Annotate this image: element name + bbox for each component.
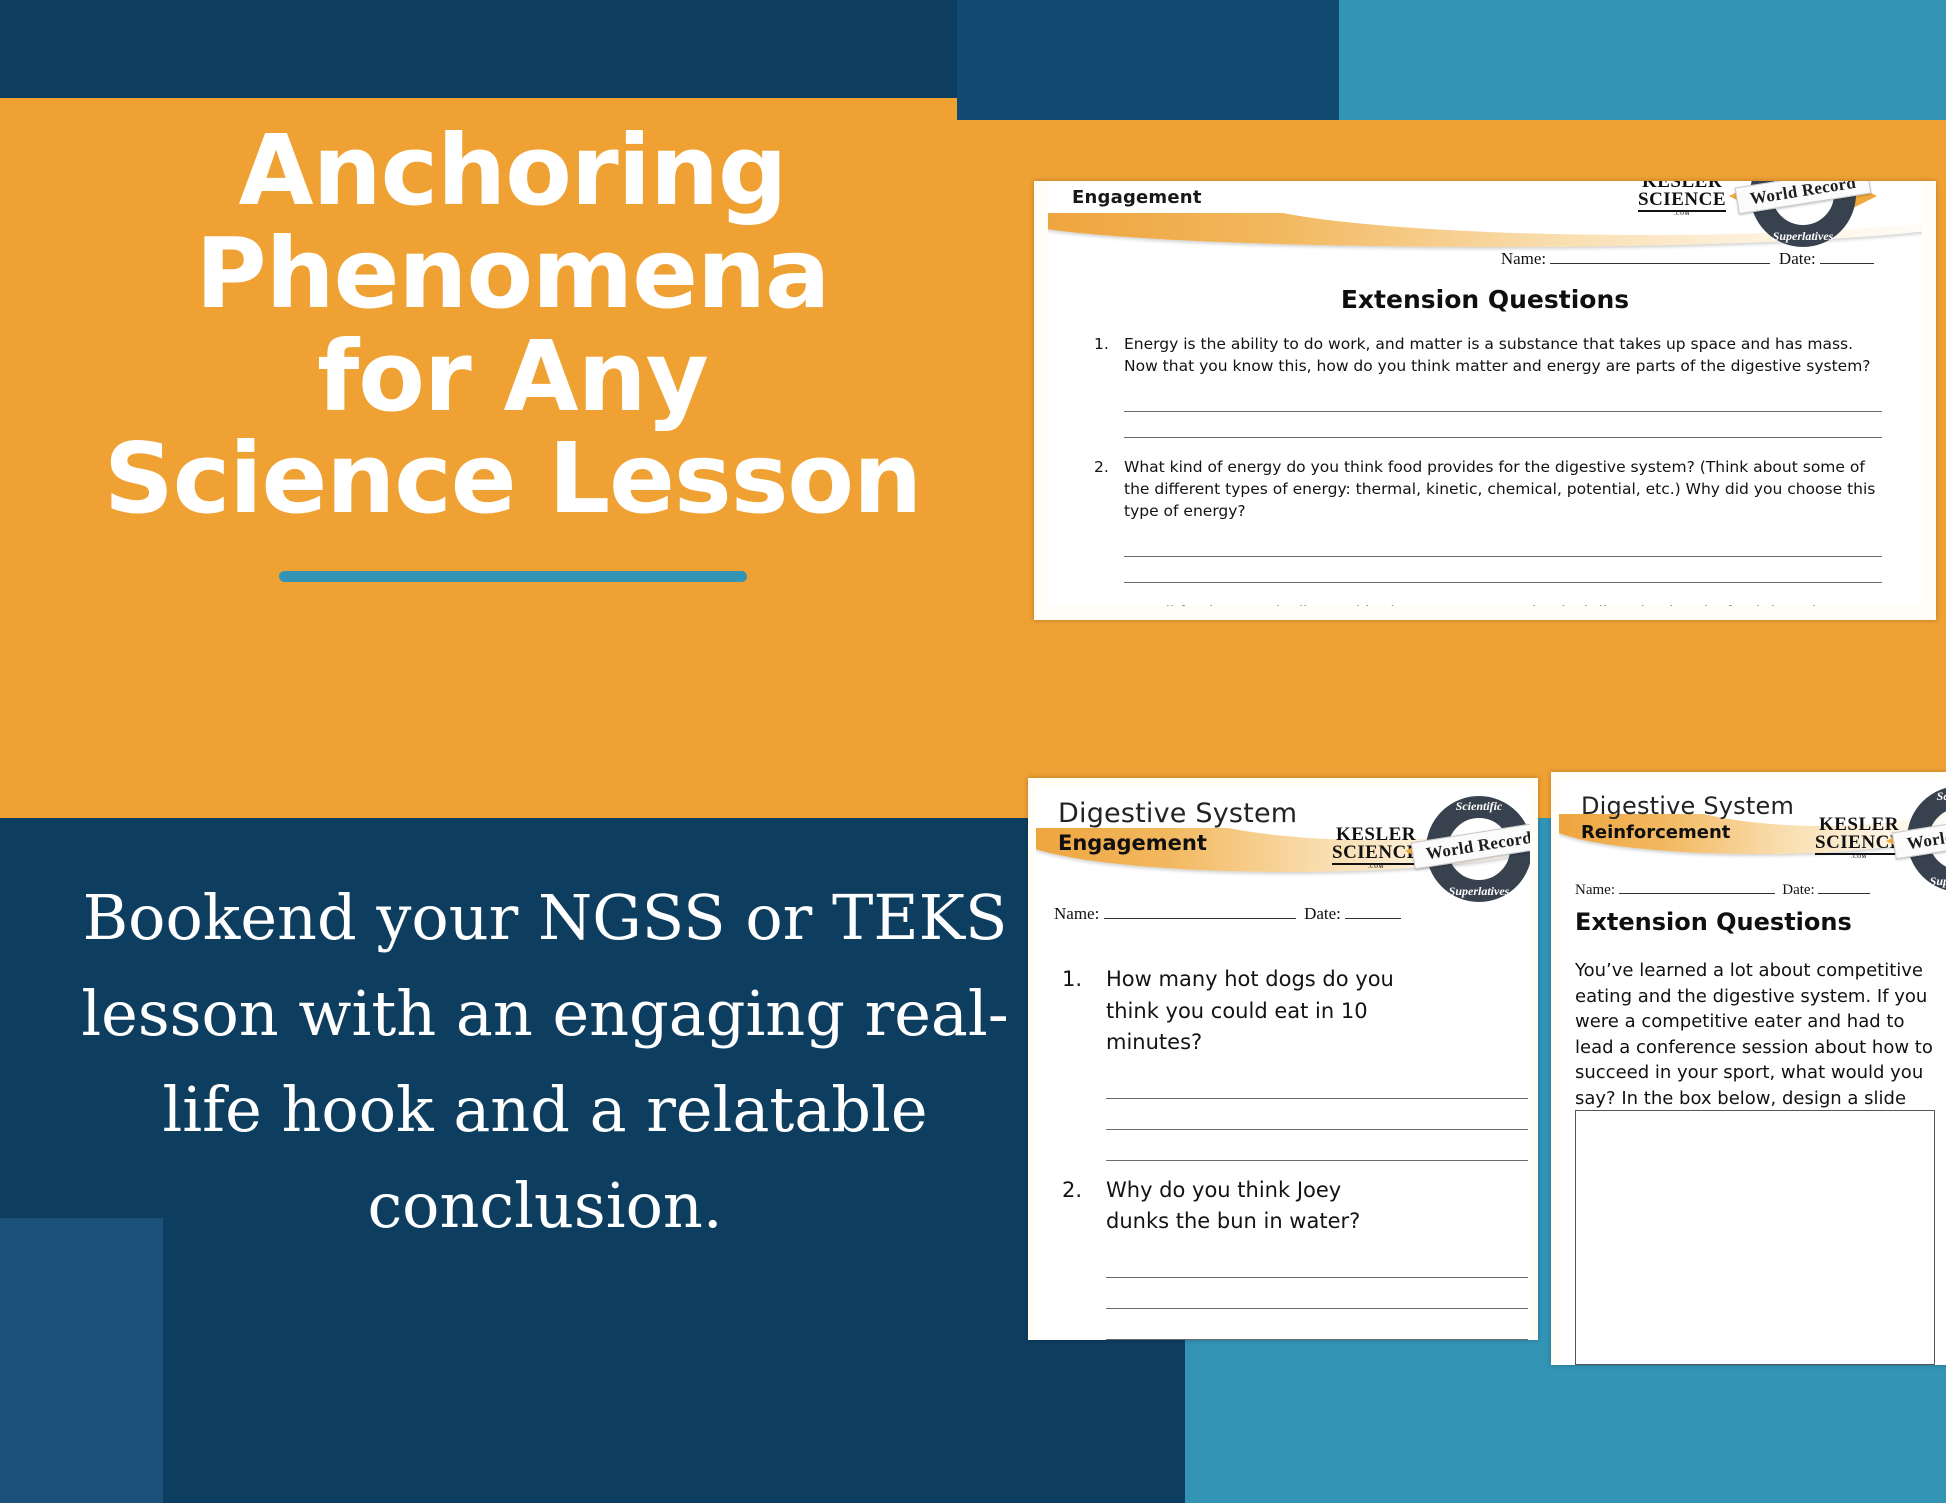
question-number: 2. [1094, 456, 1124, 522]
background-teal-bottom-right [1185, 1365, 1946, 1503]
worksheet-heading: Extension Questions [1048, 285, 1922, 314]
name-date-line: Name: Date: [1575, 882, 1870, 899]
world-record-badge: Scientific Superlatives World Record [1426, 796, 1530, 902]
answer-line[interactable] [1124, 531, 1882, 557]
background-navy-top-block [957, 0, 1339, 120]
name-date-line: Name: Date: [1054, 904, 1401, 924]
worksheet-title-block: Digestive System Engagement [1058, 798, 1297, 855]
background-lightblue-bottom-left [0, 1218, 163, 1503]
question-text: What kind of energy do you think food pr… [1124, 456, 1882, 522]
answer-lines[interactable] [1124, 386, 1882, 438]
answer-line[interactable] [1106, 1278, 1528, 1309]
answer-line[interactable] [1106, 1099, 1528, 1130]
answer-line[interactable] [1106, 1068, 1528, 1099]
page-title-line-1: Anchoring [239, 114, 787, 227]
question-list: 1. Energy is the ability to do work, and… [1094, 333, 1882, 606]
answer-line[interactable] [1124, 386, 1882, 412]
question-text: Not all food matter is digested in the s… [1124, 601, 1882, 606]
page-title: Anchoring Phenomena for Any Science Less… [60, 120, 965, 531]
question-number: 1. [1094, 333, 1124, 377]
badge-arc-bottom: Superlatives [1426, 884, 1530, 899]
answer-line[interactable] [1106, 1309, 1528, 1340]
kesler-science-logo: KESLER SCIENCE .COM [1638, 181, 1726, 218]
badge-arc-bottom: Superlatives [1750, 229, 1856, 244]
background-navy-top-left [0, 0, 968, 98]
question-list: 1. How many hot dogs do you think you co… [1062, 964, 1530, 1340]
question-number: 1. [1062, 964, 1106, 1059]
worksheet-page: Digestive System Reinforcement KESLER SC… [1559, 780, 1946, 1365]
world-record-badge: Scientific Superlatives World Record [1907, 786, 1946, 892]
answer-lines[interactable] [1124, 531, 1882, 583]
answer-line[interactable] [1124, 557, 1882, 583]
date-input[interactable] [1820, 263, 1874, 264]
worksheet-digestive-engagement: Digestive System Engagement KESLER SCIEN… [1028, 778, 1538, 1340]
hero-subtext: Bookend your NGSS or TEKS lesson with an… [40, 870, 1050, 1254]
name-label: Name: [1054, 904, 1099, 923]
logo-line-3: .COM [1815, 856, 1903, 861]
world-record-badge: Scientific Superlatives World Record [1750, 181, 1856, 247]
logo-line-3: .COM [1332, 866, 1420, 871]
hero-block: Anchoring Phenomena for Any Science Less… [60, 120, 965, 582]
name-input[interactable] [1550, 263, 1770, 264]
page-title-line-2: Phenomena [195, 217, 829, 330]
name-label: Name: [1501, 249, 1546, 268]
title-divider [279, 571, 747, 582]
date-label: Date: [1304, 904, 1341, 923]
worksheet-heading: Extension Questions [1575, 908, 1852, 936]
name-input[interactable] [1104, 918, 1296, 919]
question-item: 1. How many hot dogs do you think you co… [1062, 964, 1530, 1059]
date-input[interactable] [1818, 893, 1870, 894]
question-text: Why do you think Joey dunks the bun in w… [1106, 1175, 1396, 1238]
answer-lines[interactable] [1106, 1068, 1528, 1161]
worksheet-title: Digestive System [1581, 792, 1794, 820]
worksheet-page: Engagement KESLER SCIENCE .COM Scientifi… [1048, 181, 1922, 606]
date-label: Date: [1779, 249, 1816, 268]
question-text: Energy is the ability to do work, and ma… [1124, 333, 1882, 377]
question-item: 3. Not all food matter is digested in th… [1094, 601, 1882, 606]
date-label: Date: [1782, 882, 1814, 898]
logo-line-2: SCIENCE [1638, 191, 1726, 212]
name-input[interactable] [1619, 893, 1775, 894]
worksheet-section-label: Engagement [1072, 187, 1202, 208]
name-date-line: Name: Date: [1501, 249, 1874, 269]
badge-arc-bottom: Superlatives [1907, 874, 1946, 889]
question-text: How many hot dogs do you think you could… [1106, 964, 1396, 1059]
slide-design-box[interactable] [1575, 1110, 1935, 1365]
worksheet-subtitle: Reinforcement [1581, 822, 1794, 843]
answer-line[interactable] [1124, 412, 1882, 438]
question-item: 2. What kind of energy do you think food… [1094, 456, 1882, 522]
worksheet-title: Digestive System [1058, 798, 1297, 829]
badge-arc-top: Scientific [1426, 799, 1530, 814]
answer-line[interactable] [1106, 1130, 1528, 1161]
question-number: 3. [1094, 601, 1124, 606]
question-number: 2. [1062, 1175, 1106, 1238]
logo-line-3: .COM [1638, 213, 1726, 218]
date-input[interactable] [1345, 918, 1401, 919]
worksheet-digestive-reinforcement: Digestive System Reinforcement KESLER SC… [1551, 772, 1946, 1365]
page-title-line-3: for Any [317, 320, 708, 433]
page-title-line-4: Science Lesson [104, 422, 921, 535]
worksheet-page: Digestive System Engagement KESLER SCIEN… [1036, 786, 1530, 1340]
answer-lines[interactable] [1106, 1247, 1528, 1340]
question-item: 1. Energy is the ability to do work, and… [1094, 333, 1882, 377]
badge-arc-top: Scientific [1907, 789, 1946, 804]
answer-line[interactable] [1106, 1247, 1528, 1278]
worksheet-subtitle: Engagement [1058, 831, 1297, 855]
question-item: 2. Why do you think Joey dunks the bun i… [1062, 1175, 1530, 1238]
worksheet-title-block: Digestive System Reinforcement [1581, 792, 1794, 843]
name-label: Name: [1575, 882, 1615, 898]
worksheet-engagement-extension: Engagement KESLER SCIENCE .COM Scientifi… [1034, 181, 1936, 620]
